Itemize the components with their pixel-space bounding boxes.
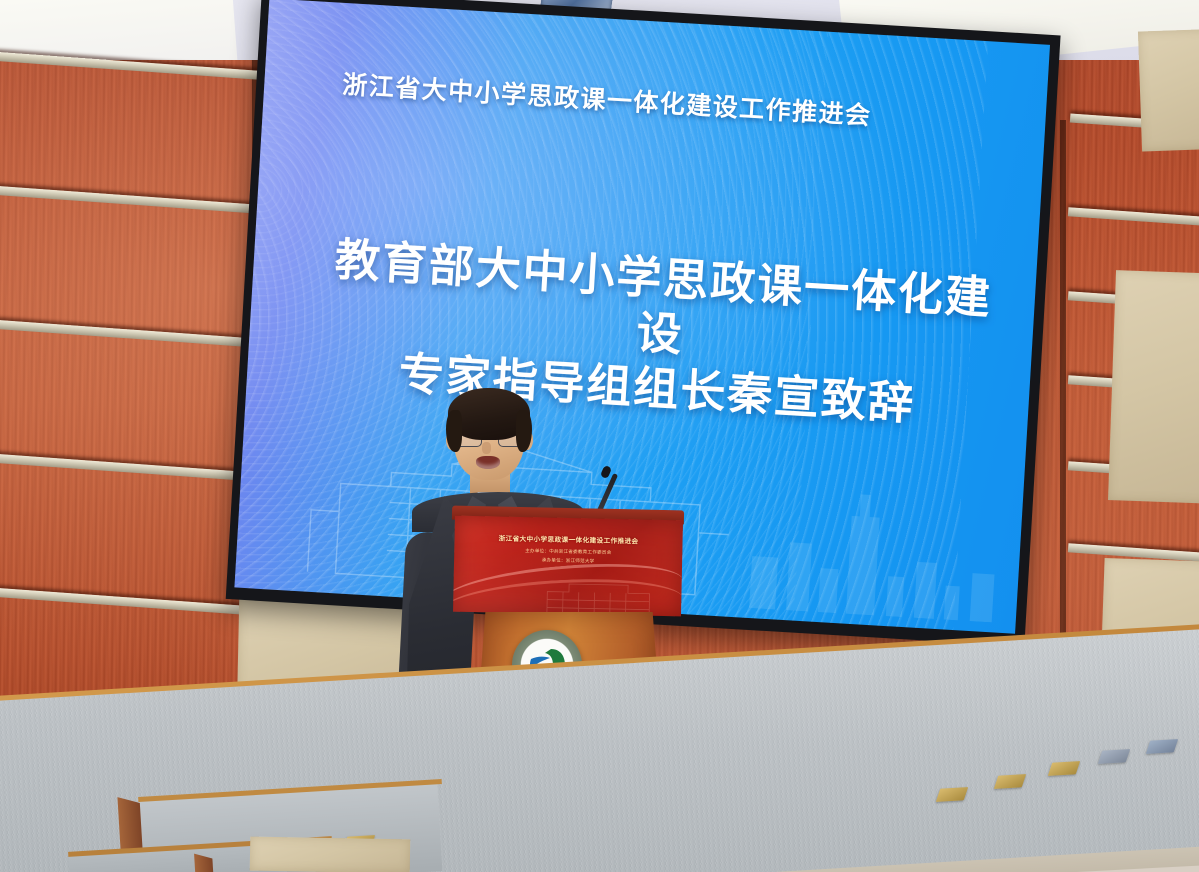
acoustic-panel [1138, 28, 1199, 151]
hair [446, 410, 462, 452]
floor-outlet-plate [1048, 761, 1080, 776]
acoustic-panel [1108, 270, 1199, 504]
floor-outlet-plate [1098, 749, 1130, 764]
floor-outlet-plate [1146, 739, 1178, 754]
podium-banner: 浙江省大中小学思政课一体化建设工作推进会 主办单位：中共浙江省委教育工作委员会 … [453, 516, 683, 617]
conference-photo: 浙江省大中小学思政课一体化建设工作推进会 教育部大中小学思政课一体化建设 专家指… [0, 0, 1199, 872]
banner-building-artwork [539, 575, 658, 616]
acoustic-panel [250, 837, 411, 872]
floor-outlet-plate [936, 787, 968, 802]
mouth [476, 456, 500, 469]
floor-outlet-plate [994, 774, 1026, 789]
